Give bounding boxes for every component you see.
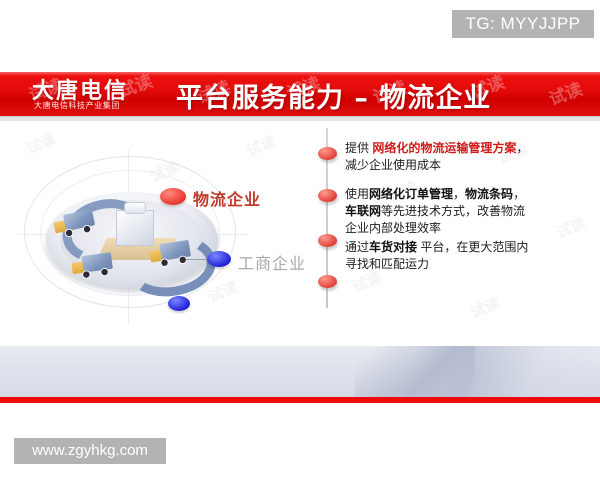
bullet-text-run: 寻找和匹配运力	[345, 257, 429, 271]
bullet-text-run: 平台，在更大范围内	[417, 240, 528, 254]
timeline-bullet-dot-icon	[318, 189, 337, 202]
bullet-line: 车联网等先进技术方式，改善物流	[345, 203, 595, 220]
timeline-bullet-dot-icon	[318, 234, 337, 247]
page-title: 平台服务能力 – 物流企业	[176, 74, 576, 116]
legend-leader-line	[186, 259, 208, 260]
bullet-text-run: 企业内部处理效率	[345, 221, 441, 235]
legend-marker-logistics-icon	[160, 188, 186, 205]
bullet-text-run: ，	[453, 187, 465, 201]
bullet-text-run: 车货对接	[369, 240, 417, 254]
tg-watermark-tag: TG: MYYJJPP	[452, 10, 594, 38]
logo-wordmark: 大唐电信	[32, 73, 174, 100]
warehouse-roof-icon	[124, 202, 146, 214]
bullet-line: 减少企业使用成本	[345, 157, 595, 174]
legend-label-commerce: 工商企业	[238, 250, 306, 274]
company-logo: 大唐电信 大唐电信科技产业集团	[28, 73, 173, 115]
legend-marker-commerce-icon	[207, 251, 231, 267]
bullet-line: 通过车货对接 平台，在更大范围内	[345, 239, 595, 256]
timeline-bullet-dot-icon	[318, 275, 337, 288]
bullet-line: 寻找和匹配运力	[345, 256, 595, 273]
bullet-text-run: 使用	[345, 187, 369, 201]
body-watermark: 试读	[243, 130, 279, 161]
logo-subtitle: 大唐电信科技产业集团	[34, 100, 174, 111]
bullet-text-run: 网络化的物流运输管理方案	[372, 141, 516, 155]
site-watermark-tag: www.zgyhkg.com	[14, 438, 166, 464]
bullet-line: 企业内部处理效率	[345, 220, 595, 237]
truck-icon	[71, 252, 114, 278]
warehouse-body-icon	[116, 210, 154, 246]
bullet-text-run: 物流条码	[465, 187, 513, 201]
bullet-line: 使用网络化订单管理，物流条码，	[345, 186, 595, 203]
legend-marker-secondary-icon	[168, 296, 190, 311]
legend-label-logistics: 物流企业	[193, 186, 261, 210]
bullet-text-run: 车联网	[345, 204, 381, 218]
bullet-text-run: 通过	[345, 240, 369, 254]
bullet-text-run: 等先进技术方式，改善物流	[381, 204, 525, 218]
body-watermark: 试读	[467, 292, 503, 323]
logistics-platform-illustration	[18, 150, 248, 325]
bullet-item: 提供 网络化的物流运输管理方案，减少企业使用成本	[345, 140, 595, 174]
bullet-text-run: 减少企业使用成本	[345, 158, 441, 172]
bullet-text-run: 提供	[345, 141, 372, 155]
bullet-item: 通过车货对接 平台，在更大范围内寻找和匹配运力	[345, 239, 595, 273]
bullet-item: 使用网络化订单管理，物流条码，车联网等先进技术方式，改善物流企业内部处理效率	[345, 186, 595, 237]
bullet-line: 提供 网络化的物流运输管理方案，	[345, 140, 595, 157]
bullet-text-run: ，	[513, 187, 525, 201]
slide-canvas: TG: MYYJJPP 试读 试读 试读 试读 试读 试读 试读 大唐电信 大唐…	[0, 0, 600, 480]
bullet-text-run: ，	[516, 141, 528, 155]
footer-wedge-shape-secondary	[355, 346, 475, 397]
timeline-bullet-dot-icon	[318, 147, 337, 160]
bullet-text-run: 网络化订单管理	[369, 187, 453, 201]
